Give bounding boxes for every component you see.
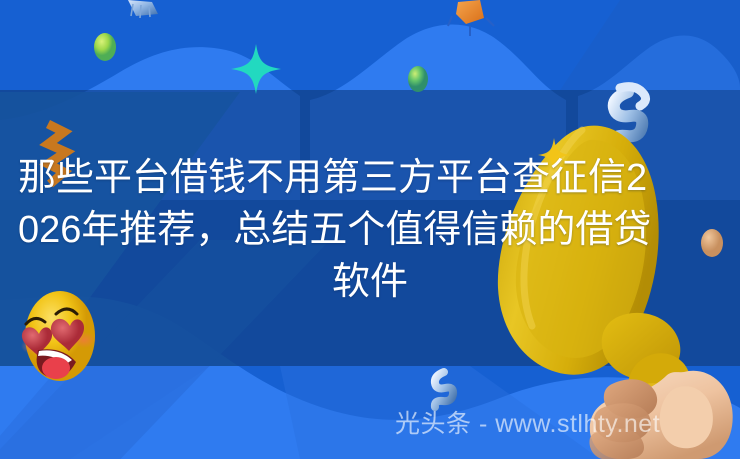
background-band-top — [0, 0, 740, 90]
article-cover-banner: 那些平台借钱不用第三方平台查征信2 026年推荐，总结五个值得信赖的借贷 软件 … — [0, 0, 740, 459]
headline-line-3: 软件 — [18, 256, 722, 308]
watermark-text: 光头条 - www.stlhty.net — [395, 409, 660, 439]
page-title: 那些平台借钱不用第三方平台查征信2 026年推荐，总结五个值得信赖的借贷 软件 — [18, 152, 722, 308]
headline-line-1: 那些平台借钱不用第三方平台查征信2 — [18, 152, 722, 204]
headline-line-2: 026年推荐，总结五个值得信赖的借贷 — [18, 204, 722, 256]
